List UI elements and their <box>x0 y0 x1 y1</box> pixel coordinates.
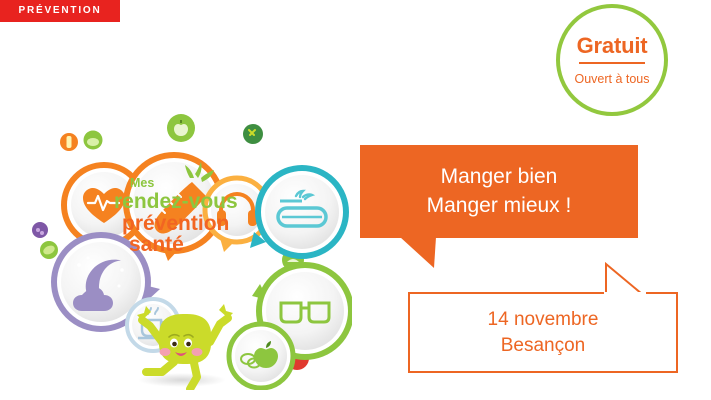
event-info-bubble: 14 novembre Besançon <box>408 292 678 373</box>
event-date: 14 novembre <box>488 307 599 333</box>
event-city: Besançon <box>501 333 586 359</box>
bubble-book <box>250 168 346 256</box>
gratuit-subtitle: Ouvert à tous <box>574 73 649 86</box>
prevention-badge: PRÉVENTION <box>0 0 120 22</box>
logo-mes: Mes <box>130 176 154 190</box>
logo-rendez-vous: rendez-vous <box>114 190 238 213</box>
headline-bubble-tail <box>400 237 436 268</box>
headline-line-1: Manger bien <box>441 163 558 191</box>
prevention-badge-label: PRÉVENTION <box>18 6 101 16</box>
headline-line-2: Manger mieux ! <box>427 192 572 220</box>
gratuit-divider <box>579 62 645 64</box>
prevention-illustration: Mes rendez-vous prévention santé <box>22 60 352 390</box>
gratuit-title: Gratuit <box>577 35 648 57</box>
logo-prevention: prévention <box>122 212 229 235</box>
headline-speech-bubble: Manger bien Manger mieux ! <box>360 145 638 238</box>
event-bubble-tail <box>592 262 650 296</box>
bubble-apple <box>229 324 293 388</box>
poster-canvas: PRÉVENTION Gratuit Ouvert à tous Manger … <box>0 0 711 400</box>
gratuit-badge: Gratuit Ouvert à tous <box>556 4 668 116</box>
logo-sante: santé <box>129 233 184 256</box>
